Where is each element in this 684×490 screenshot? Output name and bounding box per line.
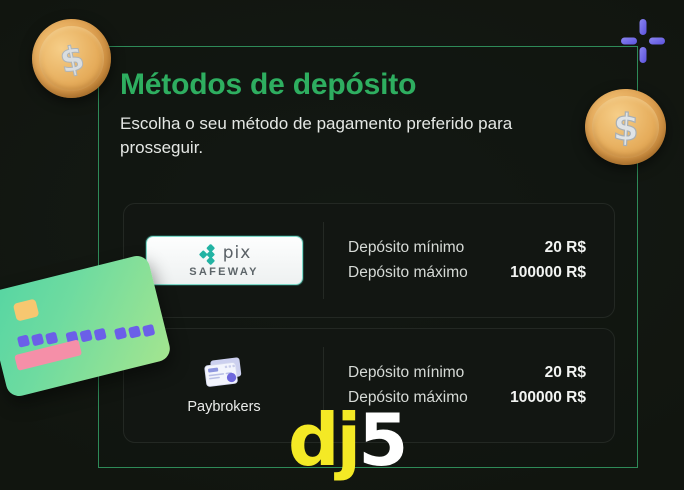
pix-safeway-badge[interactable]: pix SAFEWAY	[146, 236, 303, 285]
pix-logo-row: pix	[197, 243, 252, 265]
pix-min-value: 20 R$	[545, 236, 586, 260]
pix-mark-icon	[197, 244, 218, 265]
coin-dollar-symbol-2: $	[583, 87, 668, 167]
paybrokers-card-icon	[202, 356, 246, 390]
dj5-part1: dj	[288, 398, 358, 482]
heading-block: Métodos de depósito Escolha o seu método…	[120, 68, 590, 161]
purple-sparkle-plus-icon	[620, 18, 666, 64]
page-subtitle: Escolha o seu método de pagamento prefer…	[120, 112, 565, 161]
dj5-watermark: dj5	[288, 404, 405, 476]
paybrokers-min-label: Depósito mínimo	[348, 361, 464, 385]
dj5-part2: 5	[358, 398, 405, 482]
paybrokers-min-row: Depósito mínimo 20 R$	[348, 361, 586, 385]
paybrokers-label: Paybrokers	[187, 399, 260, 415]
svg-text:$: $	[611, 105, 639, 149]
paybrokers-logo-wrap[interactable]: Paybrokers	[187, 356, 260, 415]
pix-wordmark: pix	[223, 245, 252, 262]
coin-dollar-symbol: $	[25, 12, 119, 106]
pix-max-value: 100000 R$	[510, 261, 586, 285]
gold-coin-dollar-icon: $	[25, 12, 119, 106]
pix-info-cell: Depósito mínimo 20 R$ Depósito máximo 10…	[324, 236, 614, 285]
gold-coin-dollar-icon-2: $	[583, 87, 668, 167]
pix-min-label: Depósito mínimo	[348, 236, 464, 260]
pix-min-row: Depósito mínimo 20 R$	[348, 236, 586, 260]
safeway-wordmark: SAFEWAY	[189, 266, 258, 278]
payment-method-pix-safeway[interactable]: pix SAFEWAY Depósito mínimo 20 R$ Depósi…	[123, 203, 615, 318]
pix-max-label: Depósito máximo	[348, 261, 468, 285]
svg-text:$: $	[56, 37, 87, 81]
paybrokers-max-value: 100000 R$	[510, 386, 586, 410]
page-title: Métodos de depósito	[120, 68, 590, 102]
app-stage: Métodos de depósito Escolha o seu método…	[0, 0, 684, 490]
paybrokers-min-value: 20 R$	[545, 361, 586, 385]
pix-max-row: Depósito máximo 100000 R$	[348, 261, 586, 285]
